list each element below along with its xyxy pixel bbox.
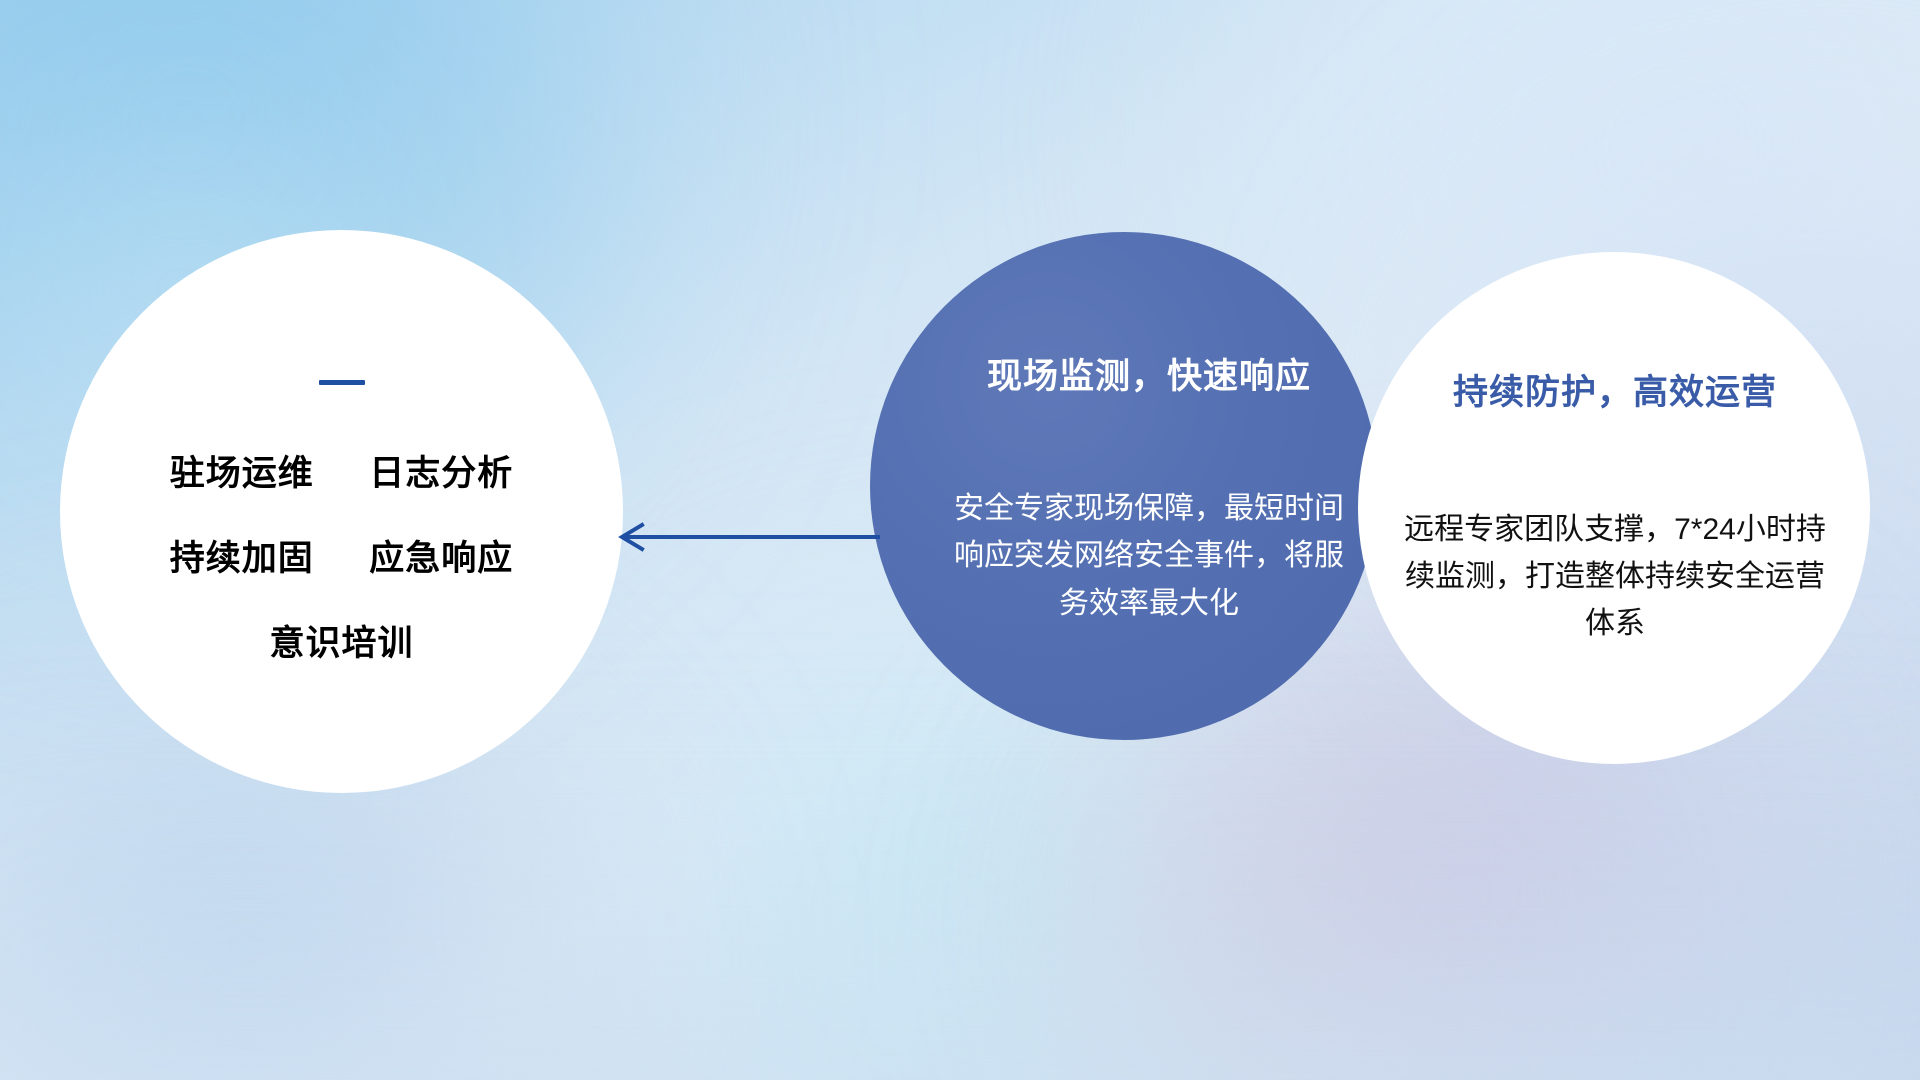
continuous-protection-circle[interactable]: 持续防护，高效运营 远程专家团队支撑，7*24小时持续监测，打造整体持续安全运营…: [1358, 252, 1870, 764]
slide-canvas: 驻场运维 日志分析 持续加固 应急响应 意识培训 现场监测，快速响应 安全专家现…: [0, 0, 1920, 1080]
flow-arrow-left-icon: [612, 520, 882, 554]
background-blob-bottom-band: [0, 780, 1920, 1080]
continuous-protection-body: 远程专家团队支撑，7*24小时持续监测，打造整体持续安全运营体系: [1394, 507, 1836, 647]
service-scope-row-3: 意识培训: [98, 615, 585, 666]
onsite-monitoring-body: 安全专家现场保障，最短时间响应突发网络安全事件，将服务效率最大化: [938, 485, 1360, 627]
service-scope-row-1: 驻场运维 日志分析: [98, 445, 585, 496]
service-scope-circle[interactable]: 驻场运维 日志分析 持续加固 应急响应 意识培训: [60, 230, 623, 793]
service-scope-content: 驻场运维 日志分析 持续加固 应急响应 意识培训: [60, 380, 623, 666]
continuous-protection-title: 持续防护，高效运营: [1394, 364, 1836, 415]
divider-rule: [319, 380, 365, 385]
service-scope-row-2: 持续加固 应急响应: [98, 530, 585, 581]
service-tag-zhuchang-yunwei: 驻场运维: [170, 454, 314, 493]
onsite-monitoring-content: 现场监测，快速响应 安全专家现场保障，最短时间响应突发网络安全事件，将服务效率最…: [938, 348, 1360, 627]
service-tag-chixu-jiagu: 持续加固: [170, 539, 314, 578]
service-tag-rizhi-fenxi: 日志分析: [369, 454, 513, 493]
onsite-monitoring-title: 现场监测，快速响应: [938, 348, 1360, 399]
onsite-monitoring-circle[interactable]: 现场监测，快速响应 安全专家现场保障，最短时间响应突发网络安全事件，将服务效率最…: [870, 232, 1378, 740]
service-tag-yishi-peixun: 意识培训: [269, 624, 413, 663]
service-tag-yingji-xiangying: 应急响应: [369, 539, 513, 578]
continuous-protection-content: 持续防护，高效运营 远程专家团队支撑，7*24小时持续监测，打造整体持续安全运营…: [1394, 364, 1836, 647]
